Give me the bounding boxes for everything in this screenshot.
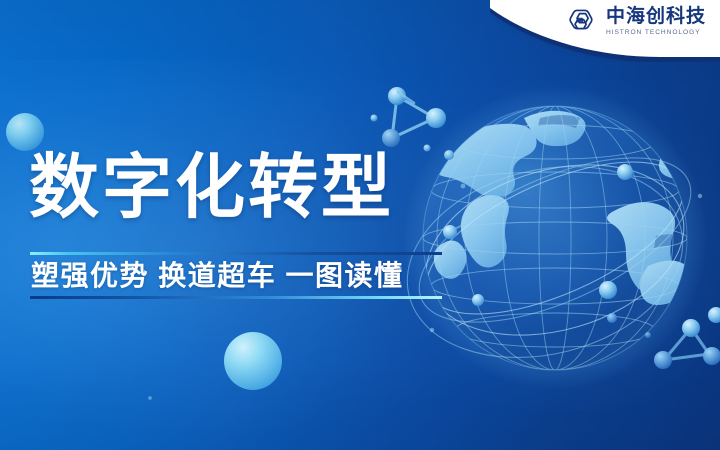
brand-logo[interactable]: 中海创科技 HISTRON TECHNOLOGY <box>566 5 706 39</box>
sphere-top-left <box>6 113 44 151</box>
globe-nodes <box>443 164 633 323</box>
brand-text: 中海创科技 HISTRON TECHNOLOGY <box>606 7 706 37</box>
brand-name-en: HISTRON TECHNOLOGY <box>606 30 708 37</box>
sphere-bottom-left <box>224 332 282 390</box>
background-glow-globe <box>400 80 720 410</box>
network-node-cluster-left-edge <box>398 92 414 103</box>
background-glow-left <box>0 60 400 450</box>
brand-name-cn: 中海创科技 <box>606 7 706 26</box>
page-subtitle: 塑强优势 换道超车 一图读懂 <box>31 262 404 290</box>
histron-hexagon-mark <box>566 5 600 39</box>
network-node-cluster-bottom <box>645 307 720 369</box>
promotional-banner: 数字化转型 塑强优势 换道超车 一图读懂 中海创科技 HISTRON TECHN… <box>0 0 720 450</box>
subtitle-rule-bottom <box>30 296 442 299</box>
page-title: 数字化转型 <box>29 152 394 222</box>
subtitle-rule-top <box>30 252 442 255</box>
